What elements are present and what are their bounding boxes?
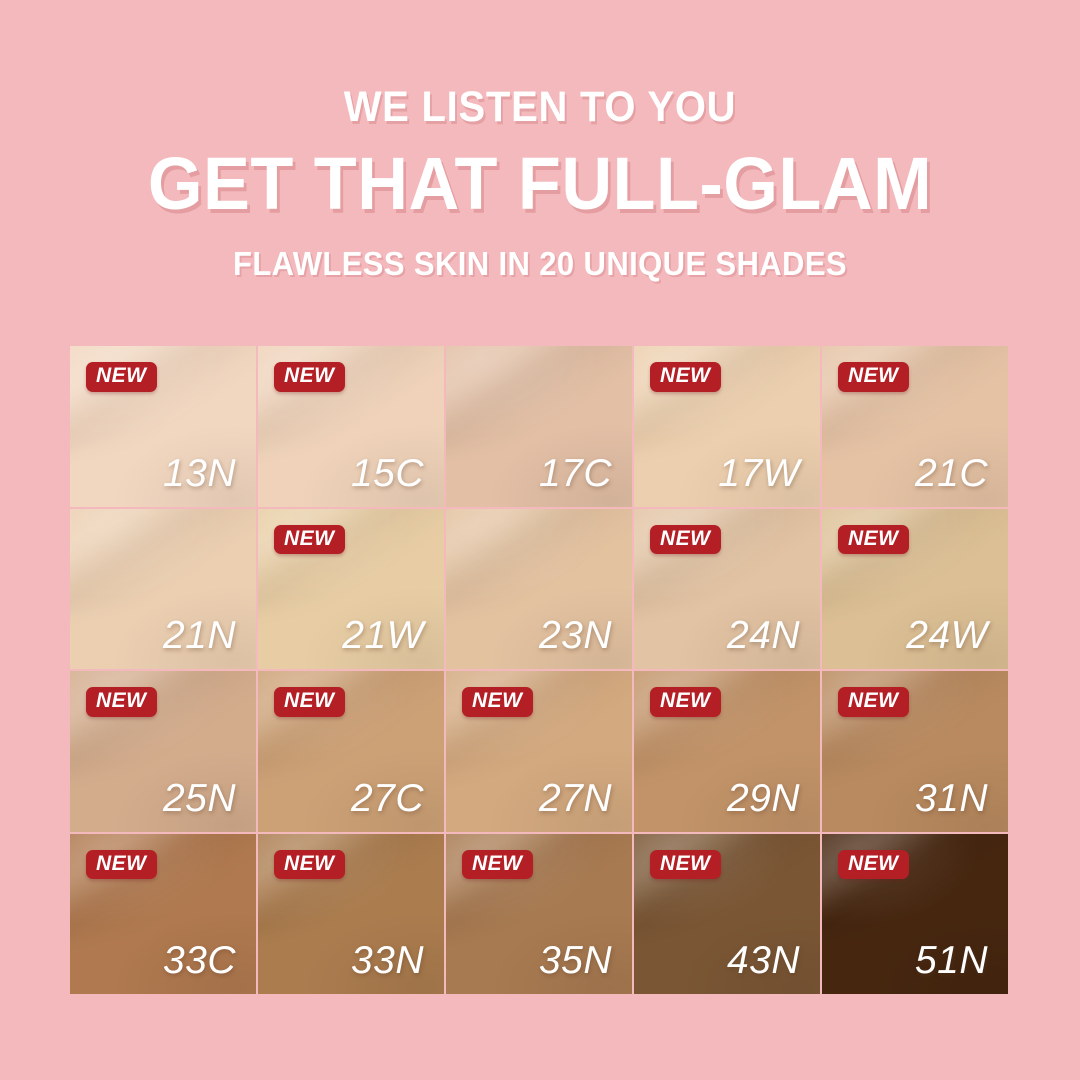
shade-code-label: 33N xyxy=(351,941,424,980)
shade-swatch[interactable]: NEW51N xyxy=(822,834,1008,995)
shade-code-label: 21C xyxy=(915,454,988,493)
shade-swatch[interactable]: NEW33C xyxy=(70,834,256,995)
shade-swatch[interactable]: NEW27N xyxy=(446,671,632,832)
new-badge: NEW xyxy=(650,362,721,392)
new-badge: NEW xyxy=(462,687,533,717)
new-badge: NEW xyxy=(838,525,909,555)
shade-code-label: 51N xyxy=(915,941,988,980)
shade-swatch[interactable]: NEW35N xyxy=(446,834,632,995)
shade-swatch[interactable]: NEW21W xyxy=(258,509,444,670)
shade-swatch[interactable]: NEW21C xyxy=(822,346,1008,507)
shade-code-label: 35N xyxy=(539,941,612,980)
shade-swatch[interactable]: NEW33N xyxy=(258,834,444,995)
new-badge: NEW xyxy=(86,687,157,717)
page-title: GET THAT FULL-GLAM xyxy=(27,147,1053,221)
shade-swatch[interactable]: 21N xyxy=(70,509,256,670)
new-badge: NEW xyxy=(274,850,345,880)
new-badge: NEW xyxy=(274,525,345,555)
shade-swatch[interactable]: NEW27C xyxy=(258,671,444,832)
shade-code-label: 33C xyxy=(163,941,236,980)
new-badge: NEW xyxy=(838,687,909,717)
shade-code-label: 21N xyxy=(163,616,236,655)
shade-swatch[interactable]: NEW17W xyxy=(634,346,820,507)
new-badge: NEW xyxy=(650,687,721,717)
new-badge: NEW xyxy=(650,525,721,555)
subheadline-text: FLAWLESS SKIN IN 20 UNIQUE SHADES xyxy=(32,247,1047,280)
shade-swatch[interactable]: NEW31N xyxy=(822,671,1008,832)
new-badge: NEW xyxy=(274,687,345,717)
shade-code-label: 43N xyxy=(727,941,800,980)
shade-swatch[interactable]: NEW29N xyxy=(634,671,820,832)
shade-code-label: 29N xyxy=(727,779,800,818)
shade-swatch[interactable]: NEW25N xyxy=(70,671,256,832)
shade-code-label: 21W xyxy=(342,616,424,655)
shade-code-label: 27C xyxy=(351,779,424,818)
new-badge: NEW xyxy=(86,362,157,392)
kicker-text: WE LISTEN TO YOU xyxy=(38,86,1042,129)
shade-code-label: 23N xyxy=(539,616,612,655)
shade-code-label: 27N xyxy=(539,779,612,818)
shade-code-label: 13N xyxy=(163,454,236,493)
shade-code-label: 17C xyxy=(539,454,612,493)
shade-swatch[interactable]: NEW15C xyxy=(258,346,444,507)
new-badge: NEW xyxy=(86,850,157,880)
shade-swatch[interactable]: NEW24N xyxy=(634,509,820,670)
promo-canvas: WE LISTEN TO YOU GET THAT FULL-GLAM FLAW… xyxy=(0,0,1080,1080)
shade-code-label: 24W xyxy=(906,616,988,655)
shade-swatch-grid: NEW13NNEW15C17CNEW17WNEW21C21NNEW21W23NN… xyxy=(70,346,1008,994)
new-badge: NEW xyxy=(838,362,909,392)
shade-swatch[interactable]: 23N xyxy=(446,509,632,670)
headline-block: WE LISTEN TO YOU GET THAT FULL-GLAM FLAW… xyxy=(0,86,1080,280)
new-badge: NEW xyxy=(838,850,909,880)
shade-code-label: 25N xyxy=(163,779,236,818)
new-badge: NEW xyxy=(462,850,533,880)
new-badge: NEW xyxy=(650,850,721,880)
shade-code-label: 17W xyxy=(718,454,800,493)
shade-code-label: 31N xyxy=(915,779,988,818)
shade-swatch[interactable]: NEW24W xyxy=(822,509,1008,670)
shade-swatch[interactable]: 17C xyxy=(446,346,632,507)
shade-swatch[interactable]: NEW43N xyxy=(634,834,820,995)
shade-swatch[interactable]: NEW13N xyxy=(70,346,256,507)
new-badge: NEW xyxy=(274,362,345,392)
shade-code-label: 24N xyxy=(727,616,800,655)
shade-code-label: 15C xyxy=(351,454,424,493)
